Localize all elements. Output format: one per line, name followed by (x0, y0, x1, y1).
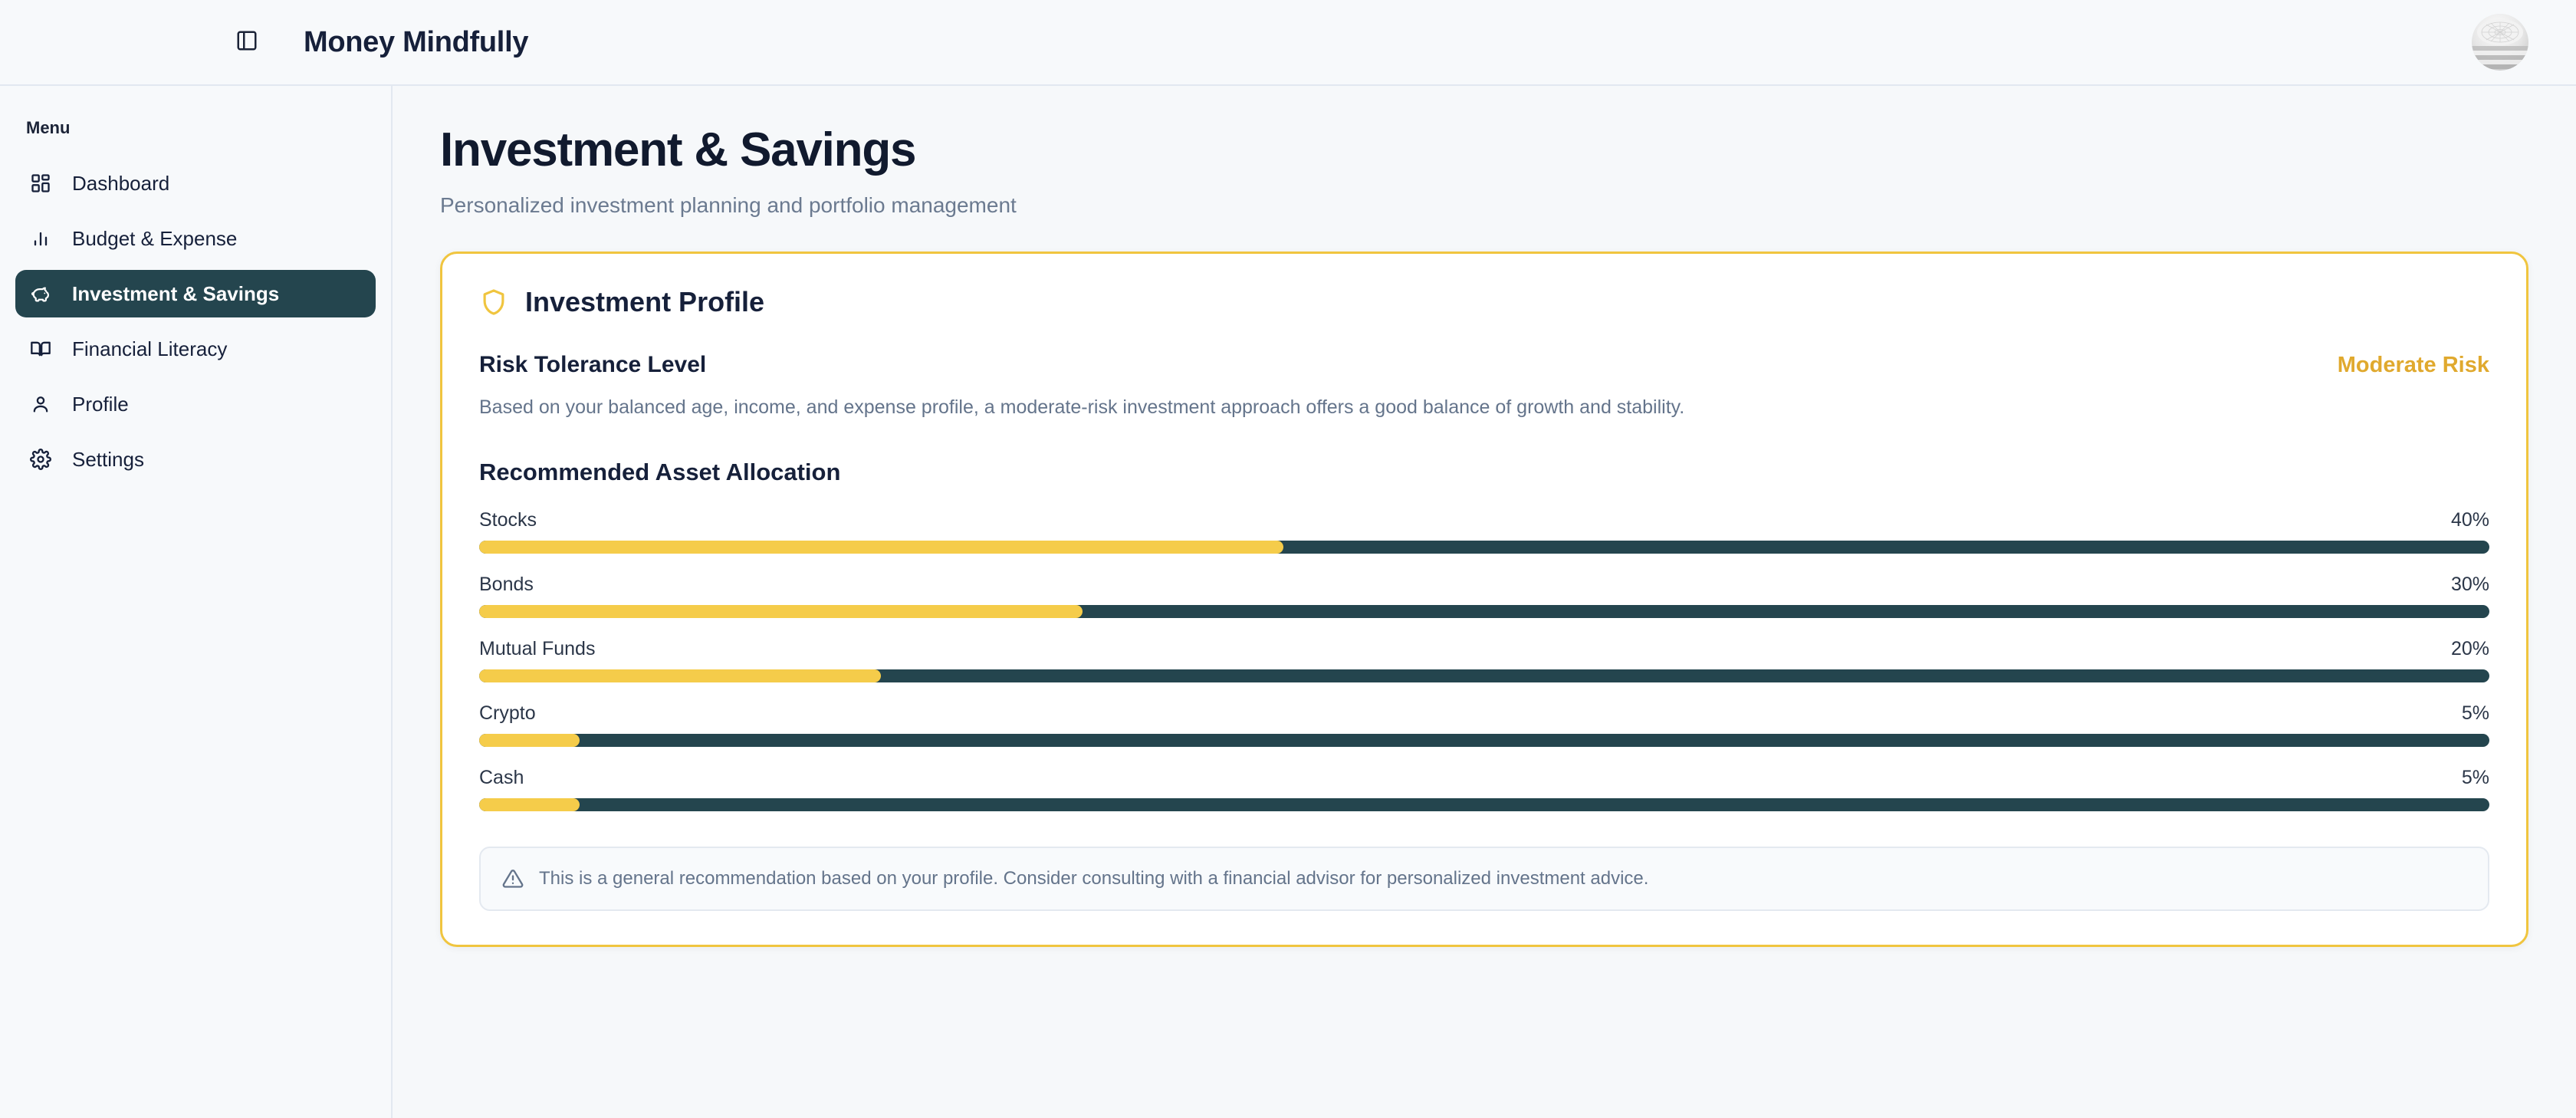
risk-tolerance-label: Risk Tolerance Level (479, 352, 706, 378)
investment-profile-card: Investment Profile Risk Tolerance Level … (440, 252, 2528, 947)
sidebar: Menu Dashboard (0, 86, 393, 1118)
allocation-percent: 20% (2451, 638, 2489, 660)
allocation-row-header: Bonds 30% (479, 574, 2489, 596)
card-title: Investment Profile (525, 286, 764, 318)
warning-triangle-icon (502, 868, 524, 889)
allocation-row-header: Crypto 5% (479, 702, 2489, 725)
allocation-row: Stocks 40% (479, 509, 2489, 554)
sidebar-item-budget-expense[interactable]: Budget & Expense (15, 215, 376, 262)
book-open-icon (29, 337, 52, 360)
shield-icon (479, 288, 508, 317)
allocation-progress-track (479, 734, 2489, 747)
sidebar-item-label: Financial Literacy (72, 337, 227, 361)
allocation-progress-track (479, 541, 2489, 554)
sidebar-section-label: Menu (15, 118, 376, 138)
allocation-progress-fill (479, 605, 1083, 618)
user-icon (29, 393, 52, 416)
allocation-name: Crypto (479, 702, 536, 725)
top-bar-right (2472, 14, 2528, 71)
disclaimer-note: This is a general recommendation based o… (479, 847, 2489, 911)
allocation-list: Stocks 40% Bonds 30% (479, 509, 2489, 811)
avatar-image (2472, 14, 2528, 71)
allocation-row: Bonds 30% (479, 574, 2489, 618)
gear-icon (29, 448, 52, 471)
allocation-name: Stocks (479, 509, 537, 531)
allocation-row-header: Cash 5% (479, 767, 2489, 789)
allocation-percent: 40% (2451, 509, 2489, 531)
risk-description: Based on your balanced age, income, and … (479, 396, 2489, 419)
allocation-row: Mutual Funds 20% (479, 638, 2489, 682)
allocation-progress-fill (479, 541, 1283, 554)
sidebar-item-profile[interactable]: Profile (15, 380, 376, 428)
sidebar-item-dashboard[interactable]: Dashboard (15, 159, 376, 207)
body-split: Menu Dashboard (0, 86, 2576, 1118)
sidebar-item-financial-literacy[interactable]: Financial Literacy (15, 325, 376, 373)
allocation-name: Mutual Funds (479, 638, 595, 660)
main-content: Investment & Savings Personalized invest… (393, 86, 2576, 1118)
card-header: Investment Profile (479, 286, 2489, 318)
allocation-progress-track (479, 605, 2489, 618)
sidebar-item-label: Investment & Savings (72, 282, 279, 306)
allocation-row: Crypto 5% (479, 702, 2489, 747)
piggy-bank-icon (29, 282, 52, 305)
sidebar-toggle-button[interactable] (230, 25, 264, 59)
allocation-progress-track (479, 798, 2489, 811)
risk-level-badge: Moderate Risk (2338, 353, 2489, 378)
allocation-row: Cash 5% (479, 767, 2489, 811)
allocation-name: Bonds (479, 574, 534, 596)
allocation-progress-fill (479, 669, 881, 682)
allocation-row-header: Stocks 40% (479, 509, 2489, 531)
allocation-name: Cash (479, 767, 524, 789)
sidebar-item-label: Profile (72, 393, 129, 416)
sidebar-item-settings[interactable]: Settings (15, 436, 376, 483)
allocation-percent: 30% (2451, 574, 2489, 596)
grid-icon (29, 172, 52, 195)
sidebar-item-label: Budget & Expense (72, 227, 237, 251)
page-title: Investment & Savings (440, 124, 2528, 176)
allocation-percent: 5% (2462, 702, 2489, 725)
bar-chart-icon (29, 227, 52, 250)
sidebar-item-investment-savings[interactable]: Investment & Savings (15, 270, 376, 317)
sidebar-item-label: Settings (72, 448, 144, 472)
sidebar-item-label: Dashboard (72, 172, 169, 196)
avatar[interactable] (2472, 14, 2528, 71)
allocation-section-title: Recommended Asset Allocation (479, 459, 2489, 486)
allocation-progress-fill (479, 734, 580, 747)
allocation-progress-fill (479, 798, 580, 811)
page-subtitle: Personalized investment planning and por… (440, 193, 2528, 218)
panel-left-icon (235, 29, 258, 56)
allocation-percent: 5% (2462, 767, 2489, 789)
allocation-row-header: Mutual Funds 20% (479, 638, 2489, 660)
app-root: Money Mindfully (0, 0, 2576, 1118)
disclaimer-text: This is a general recommendation based o… (539, 868, 1648, 889)
top-bar: Money Mindfully (0, 0, 2576, 86)
allocation-progress-track (479, 669, 2489, 682)
risk-tolerance-row: Risk Tolerance Level Moderate Risk (479, 352, 2489, 378)
brand-title: Money Mindfully (304, 26, 528, 59)
